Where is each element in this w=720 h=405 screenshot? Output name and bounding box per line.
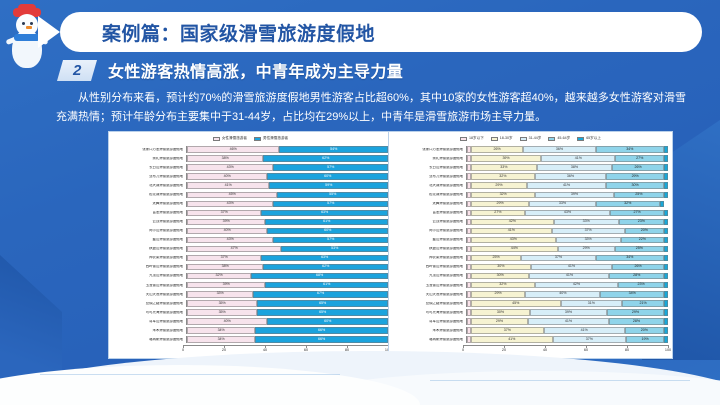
bar-segment: 33%: [187, 291, 253, 298]
bar-segment: 30%: [471, 309, 530, 316]
stacked-bar: 43%57%: [186, 201, 388, 208]
bar-segment: 39%: [471, 155, 541, 162]
bar-segment: 41%: [187, 182, 269, 189]
bar-segment: 60%: [267, 228, 388, 235]
stacked-bar: 29%41%28%: [466, 318, 668, 325]
stacked-bar: 32%39%25%: [466, 192, 668, 199]
chart-row: 长白山滑雪旅游度假地43%57%: [109, 163, 388, 172]
bar-segment: 29%: [471, 291, 525, 298]
stacked-bar: 38%62%: [186, 264, 388, 271]
bar-segment: 37%: [521, 255, 595, 262]
bar-segment: 68%: [251, 273, 388, 280]
bar-segment: [664, 164, 668, 171]
bar-segment: 40%: [187, 318, 267, 325]
bar-segment: 34%: [596, 146, 664, 153]
bar-segment: [664, 210, 668, 217]
chart-row: 将军山滑雪旅游度假地40%60%: [109, 317, 388, 326]
bar-segment: [660, 201, 664, 208]
stacked-bar: 30%41%26%: [466, 264, 668, 271]
stacked-bar: 41%37%20%: [466, 228, 668, 235]
bar-segment: [664, 255, 668, 262]
bar-segment: 32%: [471, 173, 535, 180]
bar-segment: 19%: [626, 336, 664, 343]
bar-segment: 47%: [187, 246, 281, 253]
stacked-bar: 43%33%22%: [466, 237, 668, 244]
row-label: 崇礼滑雪旅游度假地: [109, 157, 186, 160]
row-label: 西岭雪山滑雪旅游度假地: [389, 265, 466, 268]
bar-segment: 55%: [277, 192, 388, 199]
bar-segment: 40%: [187, 228, 267, 235]
stacked-bar: 41%37%19%: [466, 336, 668, 343]
chart-row: 神农架滑雪旅游度假地25%37%34%: [389, 254, 668, 263]
bar-segment: 62%: [263, 264, 388, 271]
bar-segment: 66%: [255, 327, 388, 334]
stacked-bar: 47%53%: [186, 246, 388, 253]
chart-row: 长白山滑雪旅游度假地33%38%26%: [389, 163, 668, 172]
bar-segment: 63%: [261, 255, 388, 262]
bar-segment: 29%: [471, 182, 527, 189]
bar-segment: 30%: [471, 273, 530, 280]
bar-segment: 57%: [273, 237, 388, 244]
stacked-bar: 32%68%: [186, 273, 388, 280]
bar-segment: 37%: [552, 228, 625, 235]
bar-segment: 29%: [471, 318, 528, 325]
stacked-bar: 44%29%25%: [466, 246, 668, 253]
legend-item: 45-64岁: [548, 136, 570, 141]
row-label: 长白山滑雪旅游度假地: [109, 166, 186, 169]
bar-segment: 30%: [471, 264, 531, 271]
bar-segment: 26%: [612, 164, 664, 171]
bar-segment: 27%: [615, 155, 664, 162]
row-label: 鳌山滑雪旅游度假地: [389, 238, 466, 241]
bar-segment: 41%: [471, 228, 552, 235]
bar-segment: 43%: [525, 210, 611, 217]
bar-segment: 33%: [471, 164, 537, 171]
row-label: 张家口万龙滑雪旅游度假地: [389, 148, 466, 151]
stacked-bar: 34%66%: [186, 327, 388, 334]
chart-row: 富龙滑雪旅游度假地27%43%27%: [389, 208, 668, 217]
bar-segment: 41%: [471, 336, 553, 343]
bar-segment: [664, 264, 668, 271]
row-label: 丝绸之路滑雪旅游度假地: [389, 302, 466, 305]
chart-row: 北大湖滑雪旅游度假地29%41%30%: [389, 181, 668, 190]
bar-segment: 57%: [273, 201, 388, 208]
stacked-bar: 33%38%26%: [466, 164, 668, 171]
row-label: 云顶滑雪旅游度假地: [389, 220, 466, 223]
legend-label: 65岁以上: [586, 136, 601, 141]
bar-segment: [664, 237, 668, 244]
row-label: 云顶滑雪旅游度假地: [109, 220, 186, 223]
bar-segment: 40%: [525, 291, 600, 298]
row-label: 将军山滑雪旅游度假地: [109, 320, 186, 323]
bar-segment: 65%: [257, 300, 388, 307]
row-label: 长白山滑雪旅游度假地: [389, 166, 466, 169]
bar-segment: [664, 192, 668, 199]
bar-segment: 41%: [541, 155, 615, 162]
bar-segment: 31%: [561, 300, 623, 307]
row-label: 松花湖滑雪旅游度假地: [109, 193, 186, 196]
bar-segment: 26%: [612, 264, 664, 271]
bar-segment: 34%: [596, 255, 664, 262]
legend-swatch-icon: [548, 137, 555, 141]
chart-row: 北大湖滑雪旅游度假地41%59%: [109, 181, 388, 190]
bar-segment: 33%: [556, 237, 621, 244]
stacked-bar: 39%41%27%: [466, 155, 668, 162]
bar-segment: [664, 327, 668, 334]
row-label: 亚布力滑雪旅游度假地: [109, 175, 186, 178]
body-paragraph: 从性别分布来看，预计约70%的滑雪旅游度假地男性游客占比超60%，其中10家的女…: [56, 89, 686, 127]
row-label: 禾木滑雪旅游度假地: [389, 329, 466, 332]
stacked-bar: 39%61%: [186, 282, 388, 289]
bar-segment: 57%: [273, 164, 388, 171]
stacked-bar: 30%41%28%: [466, 273, 668, 280]
row-label: 张家口万龙滑雪旅游度假地: [109, 148, 186, 151]
bar-segment: 29%: [558, 246, 615, 253]
section-title: 女性游客热情高涨，中青年成为主导力量: [108, 58, 403, 82]
row-label: 天山天池滑雪旅游度假地: [389, 293, 466, 296]
bar-segment: 60%: [267, 173, 388, 180]
row-label: 阿尔山滑雪旅游度假地: [389, 229, 466, 232]
legend-item: 男性滑雪旅游者: [254, 136, 288, 141]
chart-row: 将军山滑雪旅游度假地29%41%28%: [389, 317, 668, 326]
chart-row: 张家口万龙滑雪旅游度假地46%54%: [109, 145, 388, 154]
stacked-bar: 32%42%23%: [466, 282, 668, 289]
section-number: 2: [73, 62, 81, 79]
stacked-bar: 45%55%: [186, 192, 388, 199]
bar-segment: 29%: [471, 201, 529, 208]
play-arrow-icon: [38, 16, 60, 48]
legend-swatch-icon: [520, 137, 527, 141]
bar-segment: 20%: [625, 327, 664, 334]
stacked-bar: 30%39%29%: [466, 309, 668, 316]
bar-segment: 66%: [255, 336, 388, 343]
legend-label: 18-30岁: [500, 136, 513, 141]
legend-swatch-icon: [577, 137, 584, 141]
legend-age: 18岁以下18-30岁31-44岁45-64岁65岁以上: [389, 132, 672, 141]
bar-segment: 32%: [596, 201, 660, 208]
chart-row: 崇礼滑雪旅游度假地38%62%: [109, 154, 388, 163]
stacked-bar: 39%61%: [186, 219, 388, 226]
chart-row: 鳌山滑雪旅游度假地43%33%22%: [389, 235, 668, 244]
row-label: 神农架滑雪旅游度假地: [109, 256, 186, 259]
chart-row: 崇礼滑雪旅游度假地39%41%27%: [389, 154, 668, 163]
bar-segment: 23%: [619, 219, 664, 226]
bar-segment: 29%: [607, 309, 664, 316]
legend-swatch-icon: [254, 137, 261, 141]
bar-segment: [664, 155, 668, 162]
stacked-bar: 34%66%: [186, 336, 388, 343]
bar-segment: 54%: [279, 146, 388, 153]
row-label: 神农架滑雪旅游度假地: [389, 256, 466, 259]
chart-row: 可可托海滑雪旅游度假地30%39%29%: [389, 308, 668, 317]
bar-segment: 32%: [471, 192, 535, 199]
chart-row: 亚布力滑雪旅游度假地40%60%: [109, 172, 388, 181]
bar-segment: 39%: [535, 192, 613, 199]
row-label: 亚布力滑雪旅游度假地: [389, 175, 466, 178]
chart-row: 云顶滑雪旅游度假地42%33%23%: [389, 217, 668, 226]
bar-segment: 38%: [187, 264, 263, 271]
chart-row: 亚布力滑雪旅游度假地32%36%29%: [389, 172, 668, 181]
row-label: 富龙滑雪旅游度假地: [109, 211, 186, 214]
bar-segment: 33%: [554, 219, 619, 226]
legend-item: 18-30岁: [491, 136, 513, 141]
stacked-bar: 29%33%32%: [466, 201, 668, 208]
legend-gender: 女性滑雪旅游者男性滑雪旅游者: [109, 132, 392, 141]
bar-segment: 37%: [187, 210, 261, 217]
bar-segment: 32%: [187, 273, 251, 280]
legend-label: 18岁以下: [469, 136, 484, 141]
row-label: 九顶山滑雪旅游度假地: [109, 274, 186, 277]
chart-row: 天山天池滑雪旅游度假地29%40%34%: [389, 290, 668, 299]
stacked-bar: 35%65%: [186, 300, 388, 307]
slide-root: 案例篇：国家级滑雪旅游度假地 2 女性游客热情高涨，中青年成为主导力量 从性别分…: [0, 0, 720, 405]
bar-segment: 38%: [537, 164, 613, 171]
bar-segment: 20%: [625, 228, 664, 235]
bar-segment: [664, 300, 668, 307]
stacked-bar: 45%31%21%: [466, 300, 668, 307]
chart-row: 丝绸之路滑雪旅游度假地45%31%21%: [389, 299, 668, 308]
chart-row: 西岭雪山滑雪旅游度假地38%62%: [109, 263, 388, 272]
bar-segment: 62%: [263, 155, 388, 162]
bar-segment: 42%: [471, 219, 554, 226]
bar-rows-age: 张家口万龙滑雪旅游度假地26%36%34%崇礼滑雪旅游度假地39%41%27%长…: [389, 145, 668, 344]
stacked-bar: 40%60%: [186, 228, 388, 235]
legend-label: 31-44岁: [529, 136, 542, 141]
bar-segment: 41%: [527, 182, 606, 189]
legend-label: 男性滑雪旅游者: [263, 136, 288, 141]
row-label: 九顶山滑雪旅游度假地: [389, 274, 466, 277]
bar-segment: [664, 336, 668, 343]
row-label: 可可托海滑雪旅游度假地: [109, 311, 186, 314]
bar-segment: 21%: [622, 300, 664, 307]
chart-row: 玉龙雪山滑雪旅游度假地39%61%: [109, 281, 388, 290]
bar-segment: 53%: [281, 246, 388, 253]
bar-segment: 27%: [610, 210, 664, 217]
bar-segment: 25%: [615, 246, 664, 253]
bar-segment: 35%: [187, 309, 257, 316]
bar-segment: 35%: [187, 300, 257, 307]
chart-row: 九顶山滑雪旅游度假地30%41%28%: [389, 272, 668, 281]
bar-segment: [664, 273, 668, 280]
row-label: 阿尔山滑雪旅游度假地: [109, 229, 186, 232]
chart-row: 玉龙雪山滑雪旅游度假地32%42%23%: [389, 281, 668, 290]
bar-segment: 43%: [187, 164, 273, 171]
row-label: 松花湖滑雪旅游度假地: [389, 193, 466, 196]
chart-row: 禾木滑雪旅游度假地34%66%: [109, 326, 388, 335]
page-title: 案例篇：国家级滑雪旅游度假地: [102, 19, 375, 46]
stacked-bar: 43%57%: [186, 164, 388, 171]
chart-row: 张家口万龙滑雪旅游度假地26%36%34%: [389, 145, 668, 154]
stacked-bar: 43%57%: [186, 237, 388, 244]
bar-segment: 29%: [606, 173, 664, 180]
legend-item: 女性滑雪旅游者: [213, 136, 247, 141]
plot-area-age: 张家口万龙滑雪旅游度假地26%36%34%崇礼滑雪旅游度假地39%41%27%长…: [389, 145, 672, 344]
chart-row: 富龙滑雪旅游度假地37%63%: [109, 208, 388, 217]
bar-segment: 38%: [187, 155, 263, 162]
row-label: 西岭雪山滑雪旅游度假地: [109, 265, 186, 268]
bar-segment: 61%: [265, 282, 388, 289]
bar-segment: 60%: [267, 318, 388, 325]
plot-area-gender: 张家口万龙滑雪旅游度假地46%54%崇礼滑雪旅游度假地38%62%长白山滑雪旅游…: [109, 145, 392, 344]
row-label: 天山天池滑雪旅游度假地: [109, 293, 186, 296]
bar-segment: 67%: [253, 291, 388, 298]
chart-row: 天山天池滑雪旅游度假地33%67%: [109, 290, 388, 299]
chart-row: 太舞滑雪旅游度假地29%33%32%: [389, 199, 668, 208]
bar-segment: 41%: [529, 273, 609, 280]
bar-segment: [664, 309, 668, 316]
stacked-bar: 37%63%: [186, 255, 388, 262]
stacked-bar: 41%59%: [186, 182, 388, 189]
bar-segment: 37%: [187, 255, 261, 262]
bar-segment: [664, 228, 668, 235]
legend-label: 女性滑雪旅游者: [222, 136, 247, 141]
stacked-bar: 27%43%27%: [466, 210, 668, 217]
bar-segment: 33%: [529, 201, 595, 208]
chart-row: 禾木滑雪旅游度假地37%41%20%: [389, 326, 668, 335]
row-label: 鳌山滑雪旅游度假地: [109, 238, 186, 241]
chart-row: 鳌山滑雪旅游度假地43%57%: [109, 235, 388, 244]
bar-segment: [664, 291, 668, 298]
bar-segment: 45%: [187, 192, 277, 199]
chart-row: 棋盘山滑雪旅游度假地47%53%: [109, 245, 388, 254]
bar-segment: 39%: [187, 282, 265, 289]
bar-segment: 37%: [553, 336, 627, 343]
row-label: 将军山滑雪旅游度假地: [389, 320, 466, 323]
stacked-bar: 38%62%: [186, 155, 388, 162]
chart-row: 阿尔山滑雪旅游度假地40%60%: [109, 226, 388, 235]
bar-segment: [664, 318, 668, 325]
row-label: 丝绸之路滑雪旅游度假地: [109, 302, 186, 305]
section-heading: 2 女性游客热情高涨，中青年成为主导力量: [60, 58, 403, 82]
bar-segment: 63%: [261, 210, 388, 217]
legend-swatch-icon: [491, 137, 498, 141]
chart-panel-gender: 女性滑雪旅游者男性滑雪旅游者 张家口万龙滑雪旅游度假地46%54%崇礼滑雪旅游度…: [108, 131, 393, 359]
bar-segment: 45%: [471, 300, 561, 307]
stacked-bar: 46%54%: [186, 146, 388, 153]
section-number-badge: 2: [57, 60, 97, 81]
row-label: 北大湖滑雪旅游度假地: [389, 184, 466, 187]
row-label: 北大湖滑雪旅游度假地: [109, 184, 186, 187]
bar-segment: 26%: [471, 146, 523, 153]
bar-segment: 61%: [265, 219, 388, 226]
bar-segment: 36%: [523, 146, 595, 153]
bar-segment: 44%: [471, 246, 558, 253]
bar-segment: 39%: [530, 309, 607, 316]
stacked-bar: 29%41%30%: [466, 182, 668, 189]
chart-row: 棋盘山滑雪旅游度假地44%29%25%: [389, 245, 668, 254]
chart-row: 丝绸之路滑雪旅游度假地35%65%: [109, 299, 388, 308]
bar-segment: 32%: [471, 282, 535, 289]
bar-segment: 41%: [528, 318, 609, 325]
bar-segment: 27%: [471, 210, 525, 217]
stacked-bar: 37%63%: [186, 210, 388, 217]
bar-rows-gender: 张家口万龙滑雪旅游度假地46%54%崇礼滑雪旅游度假地38%62%长白山滑雪旅游…: [109, 145, 388, 344]
bar-segment: 59%: [269, 182, 388, 189]
chart-row: 可可托海滑雪旅游度假地35%65%: [109, 308, 388, 317]
row-label: 棋盘山滑雪旅游度假地: [109, 247, 186, 250]
chart-row: 松花湖滑雪旅游度假地32%39%25%: [389, 190, 668, 199]
legend-item: 65岁以上: [577, 136, 601, 141]
bar-segment: 40%: [187, 173, 267, 180]
row-label: 富龙滑雪旅游度假地: [389, 211, 466, 214]
stacked-bar: 26%36%34%: [466, 146, 668, 153]
chart-row: 云顶滑雪旅游度假地39%61%: [109, 217, 388, 226]
bar-segment: [664, 173, 668, 180]
stacked-bar: 37%41%20%: [466, 327, 668, 334]
chart-row: 太舞滑雪旅游度假地43%57%: [109, 199, 388, 208]
row-label: 禾木滑雪旅游度假地: [109, 329, 186, 332]
bar-segment: 37%: [471, 327, 544, 334]
bar-segment: 46%: [187, 146, 279, 153]
chart-panel-age: 18岁以下18-30岁31-44岁45-64岁65岁以上 张家口万龙滑雪旅游度假…: [388, 131, 673, 359]
row-label: 喀纳斯滑雪旅游度假地: [109, 338, 186, 341]
bar-segment: 36%: [535, 173, 607, 180]
bar-segment: 43%: [187, 201, 273, 208]
row-label: 可可托海滑雪旅游度假地: [389, 311, 466, 314]
slide-header: 案例篇：国家级滑雪旅游度假地: [60, 12, 702, 52]
row-label: 玉龙雪山滑雪旅游度假地: [109, 284, 186, 287]
bar-segment: 43%: [187, 237, 273, 244]
bar-segment: 39%: [187, 219, 265, 226]
stacked-bar: 42%33%23%: [466, 219, 668, 226]
bar-segment: [664, 182, 668, 189]
bar-segment: 43%: [471, 237, 556, 244]
chart-row: 神农架滑雪旅游度假地37%63%: [109, 254, 388, 263]
row-label: 崇礼滑雪旅游度假地: [389, 157, 466, 160]
bar-segment: 30%: [606, 182, 664, 189]
row-label: 太舞滑雪旅游度假地: [109, 202, 186, 205]
stacked-bar: 40%60%: [186, 318, 388, 325]
stacked-bar: 33%67%: [186, 291, 388, 298]
stacked-bar: 35%65%: [186, 309, 388, 316]
stacked-bar: 32%36%29%: [466, 173, 668, 180]
bar-segment: 22%: [621, 237, 664, 244]
legend-label: 45-64岁: [557, 136, 570, 141]
row-label: 太舞滑雪旅游度假地: [389, 202, 466, 205]
legend-swatch-icon: [460, 137, 467, 141]
bar-segment: 41%: [544, 327, 625, 334]
row-label: 棋盘山滑雪旅游度假地: [389, 247, 466, 250]
row-label: 玉龙雪山滑雪旅游度假地: [389, 284, 466, 287]
snow-drift-decoration: [0, 343, 720, 405]
bar-segment: [664, 282, 668, 289]
bar-segment: 34%: [187, 327, 255, 334]
bar-segment: 25%: [471, 255, 521, 262]
stacked-bar: 29%40%34%: [466, 291, 668, 298]
chart-row: 松花湖滑雪旅游度假地45%55%: [109, 190, 388, 199]
chart-row: 西岭雪山滑雪旅游度假地30%41%26%: [389, 263, 668, 272]
row-label: 喀纳斯滑雪旅游度假地: [389, 338, 466, 341]
bar-segment: 28%: [609, 318, 664, 325]
bar-segment: 65%: [257, 309, 388, 316]
bar-segment: 41%: [531, 264, 613, 271]
stacked-bar: 40%60%: [186, 173, 388, 180]
bar-segment: [664, 146, 668, 153]
bar-segment: [664, 219, 668, 226]
legend-item: 18岁以下: [460, 136, 484, 141]
stacked-bar: 25%37%34%: [466, 255, 668, 262]
bar-segment: 25%: [614, 192, 664, 199]
bar-segment: 42%: [535, 282, 619, 289]
legend-item: 31-44岁: [520, 136, 542, 141]
chart-row: 九顶山滑雪旅游度假地32%68%: [109, 272, 388, 281]
chart-row: 阿尔山滑雪旅游度假地41%37%20%: [389, 226, 668, 235]
bar-segment: 23%: [618, 282, 664, 289]
bar-segment: [664, 246, 668, 253]
legend-swatch-icon: [213, 137, 220, 141]
bar-segment: 34%: [600, 291, 664, 298]
bar-segment: 28%: [609, 273, 664, 280]
